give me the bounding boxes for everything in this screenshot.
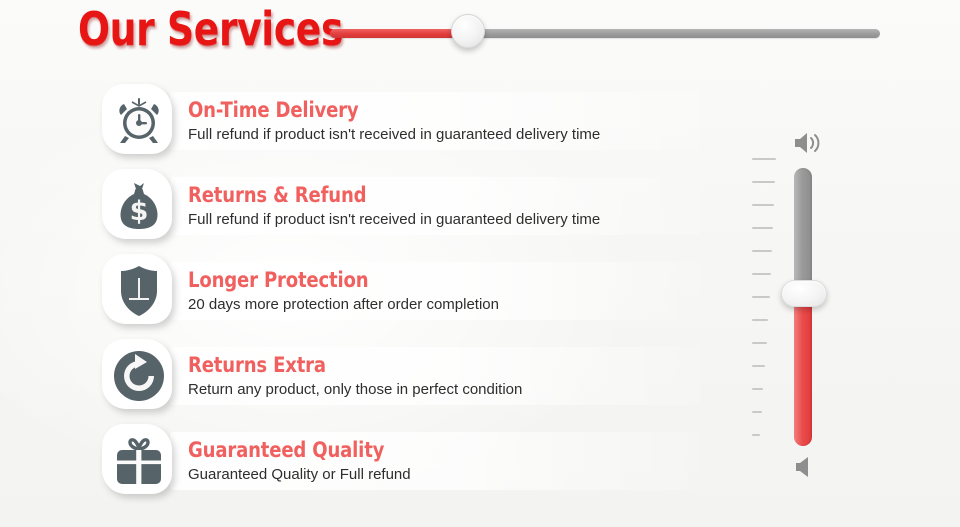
volume-track-lower	[794, 296, 812, 446]
progress-slider[interactable]	[330, 27, 880, 40]
page-title: Our Services	[78, 2, 343, 56]
service-description: Return any product, only those in perfec…	[188, 381, 522, 398]
volume-low-icon[interactable]	[794, 455, 818, 479]
volume-slider-thumb[interactable]	[781, 280, 827, 307]
service-row[interactable]: Returns Extra Return any product, only t…	[0, 333, 740, 418]
alarm-clock-icon	[100, 82, 178, 160]
service-text: On-Time Delivery Full refund if product …	[188, 98, 600, 143]
service-text: Longer Protection 20 days more protectio…	[188, 268, 499, 313]
service-title: Guaranteed Quality	[188, 438, 384, 462]
service-row[interactable]: Longer Protection 20 days more protectio…	[0, 248, 740, 333]
gift-box-icon	[100, 422, 178, 500]
service-text: Returns Extra Return any product, only t…	[188, 353, 522, 398]
volume-track-upper	[794, 168, 812, 296]
money-bag-icon: $	[100, 167, 178, 245]
service-text: Guaranteed Quality Guaranteed Quality or…	[188, 438, 416, 483]
shield-icon	[100, 252, 178, 330]
volume-high-icon[interactable]	[793, 130, 825, 156]
progress-slider-track	[466, 29, 880, 38]
service-description: 20 days more protection after order comp…	[188, 296, 499, 313]
progress-slider-fill	[330, 29, 470, 38]
service-title: Longer Protection	[188, 268, 455, 292]
service-row[interactable]: On-Time Delivery Full refund if product …	[0, 78, 740, 163]
service-description: Full refund if product isn't received in…	[188, 211, 600, 228]
service-text: Returns & Refund Full refund if product …	[188, 183, 600, 228]
service-title: Returns & Refund	[188, 183, 543, 207]
service-title: On-Time Delivery	[188, 98, 543, 122]
service-row[interactable]: Guaranteed Quality Guaranteed Quality or…	[0, 418, 740, 503]
services-list: On-Time Delivery Full refund if product …	[0, 78, 740, 503]
volume-tick-marks	[752, 158, 782, 448]
progress-slider-thumb[interactable]	[451, 14, 485, 48]
service-row[interactable]: $ Returns & Refund Full refund if produc…	[0, 163, 740, 248]
service-description: Guaranteed Quality or Full refund	[188, 466, 416, 483]
services-panel: Our Services	[0, 0, 960, 527]
svg-text:$: $	[130, 196, 149, 227]
service-description: Full refund if product isn't received in…	[188, 126, 600, 143]
service-title: Returns Extra	[188, 353, 476, 377]
volume-slider[interactable]	[752, 130, 862, 490]
refresh-circle-icon	[100, 337, 178, 415]
